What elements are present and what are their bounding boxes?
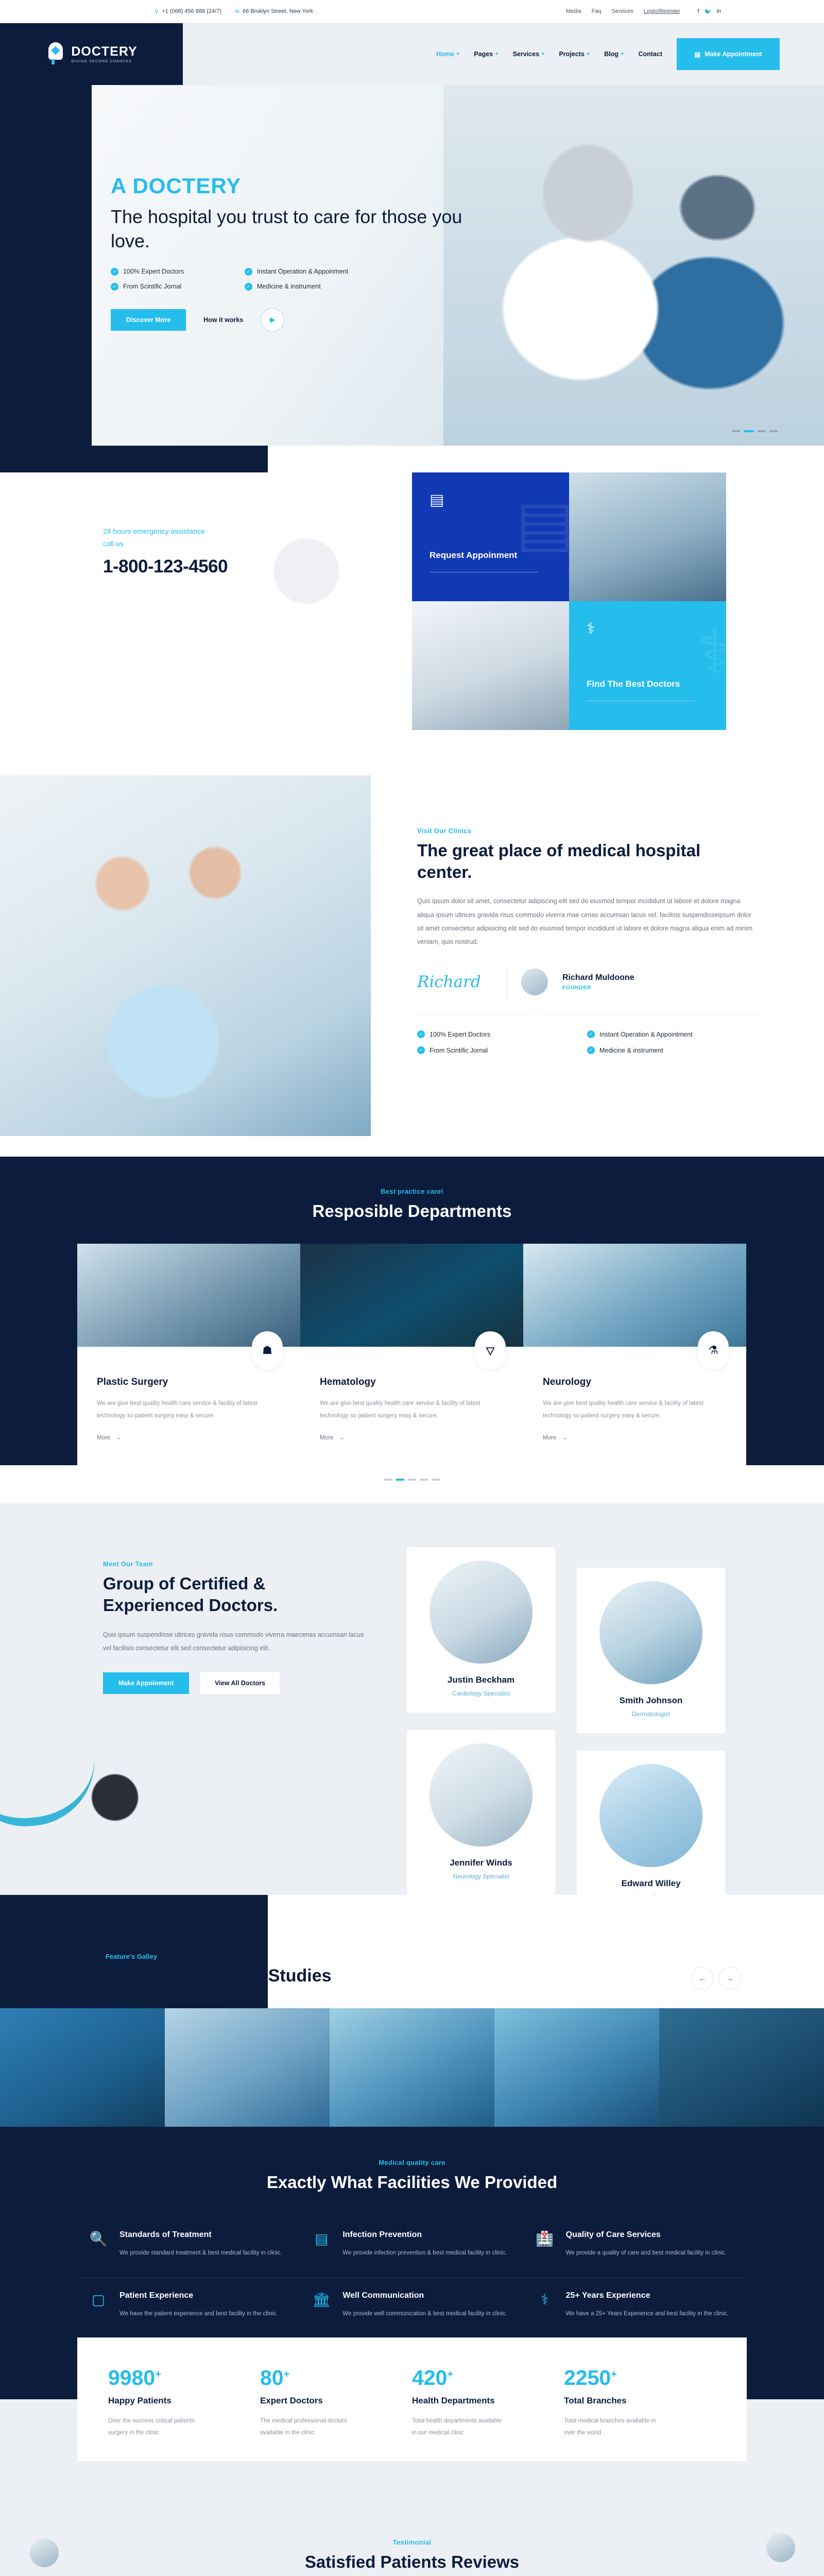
check-icon: ✓ [245,268,252,276]
divider [417,1014,757,1015]
about-paragraph: Quis ipsum dolor sit amet, consectetur a… [417,894,757,948]
hero-feature-label: From Scintific Jornal [123,283,181,290]
chevron-down-icon: + [621,51,624,57]
hero-feature-item: ✓ Instant Operation & Appoinment [245,268,379,276]
stat-item: 420+ Health Departments Total health dep… [412,2367,564,2439]
arrow-right-icon: → [115,1435,122,1441]
stethoscope-icon: ⚕ [534,2291,556,2316]
check-icon: ✓ [245,283,252,291]
facility-item: 🏥 Quality of Care Services We provide a … [524,2217,747,2277]
case-study-image[interactable] [330,2008,494,2127]
about-feature-item: ✓ 100% Expert Doctors [417,1030,587,1038]
stat-text: Total medical branches available in over… [564,2415,657,2439]
facilities-kicker: Medical quality care [0,2159,824,2166]
facility-title: Quality of Care Services [566,2230,727,2240]
facility-title: 25+ Years Experience [566,2291,729,2300]
doctors-handshake-photo [412,601,569,730]
patient-avatar [30,2538,59,2567]
facilities-title: Exactly What Facilities We Provided [0,2172,824,2193]
topbar-address[interactable]: ✉ 66 Broklyn Street, New York [235,8,313,15]
facility-title: Well Communication [342,2291,507,2300]
doctors-section: Meet Our Team Group of Certified & Exper… [0,1503,824,1895]
hero-feature-label: Medicine & instrument [257,283,321,290]
head-surgery-icon: ☗ [252,1331,283,1369]
top-bar: ⚲ +1 (068) 456 888 (24/7) ✉ 66 Broklyn S… [0,0,824,23]
site-header: DOCTERY GIVING SECOND CHANCES Home + Pag… [0,23,824,85]
magnifier-doctor-icon: 🔍 [88,2230,109,2255]
report-icon: ▤ [311,2230,332,2255]
doctor-name: Edward Willey [588,1878,714,1889]
stat-title: Expert Doctors [260,2396,412,2406]
about-feature-label: Instant Operation & Appointment [599,1031,693,1038]
case-study-image[interactable] [165,2008,330,2127]
department-title: Hematology [320,1377,504,1388]
stat-title: Total Branches [564,2396,716,2406]
doctors-title: Group of Certified & Experienced Doctors… [103,1573,371,1616]
about-feature-label: 100% Expert Doctors [430,1031,490,1038]
case-studies-accent-panel [0,1895,268,2008]
departments-section: Best practice care! Resposible Departmen… [0,1157,824,1503]
hero-dot[interactable] [769,430,778,432]
location-pin-icon: ⚲ [154,8,159,15]
topbar-link-login-register[interactable]: Login/Register [644,8,680,14]
case-study-image[interactable] [0,2008,165,2127]
doctor-icon: ⚕ [587,620,595,638]
topbar-link-faq[interactable]: Faq [592,8,602,14]
nav-label: Pages [474,50,493,58]
facility-text: We provide infection prevention & best m… [342,2247,507,2259]
doctery-logo-icon [45,42,66,66]
logo-name: DOCTERY [71,45,137,58]
stats-section: 9980+ Happy Patients Over the success cr… [0,2337,824,2461]
hero-kicker: A DOCTERY [111,175,471,197]
doctor-name: Justin Beckham [418,1675,544,1685]
hero-feature-item: ✓ From Scintific Jornal [111,283,245,291]
view-all-doctors-button[interactable]: View All Doctors [200,1672,280,1694]
nav-label: Services [513,50,539,58]
founder-signature: Richard [417,973,492,991]
department-text: We are give best quality health care ser… [97,1397,281,1422]
patient-avatar [766,2533,795,2562]
doctor-role: Neurology Specialist [418,1873,544,1880]
facility-text: We have the patient experience and best … [119,2308,278,2320]
check-icon: ✓ [111,283,118,291]
arrow-left-icon[interactable]: ← [691,1967,714,1990]
facility-text: We provide well communication & best med… [342,2308,507,2320]
hero-dot-active[interactable] [744,430,754,432]
hero-feature-label: 100% Expert Doctors [123,268,184,275]
about-title: The great place of medical hospital cent… [417,840,757,883]
doctor-role: Cardiology Specialist [418,1690,544,1697]
stat-number: 420+ [412,2367,564,2388]
make-appointment-label: Make Appointment [705,50,762,58]
stat-item: 2250+ Total Branches Total medical branc… [564,2367,716,2439]
departments-slider-dots[interactable] [0,1465,824,1503]
departments-kicker: Best practice care! [0,1188,824,1195]
avatar [599,1581,702,1684]
chevron-down-icon: + [495,51,498,57]
emergency-label: 24 hours emergency assistance call us [103,526,216,550]
doctor-role: Dermatologist [588,1710,714,1718]
make-appointment-button-doctors[interactable]: Make Appoinment [103,1672,189,1694]
doctor-card[interactable]: Smith Johnson Dermatologist [577,1568,725,1733]
department-card[interactable]: ⚗ Neurology We are give best quality hea… [523,1244,746,1465]
doctor-patient-photo [569,472,726,601]
topbar-phone-text: +1 (068) 456 888 (24/7) [162,8,221,14]
facility-text: We have a 25+ Years Experience and best … [566,2308,729,2320]
stat-text: Over the success critical patients surge… [108,2415,201,2439]
stat-plus: + [611,2368,617,2380]
topbar-address-text: 66 Broklyn Street, New York [243,8,313,14]
discover-more-button[interactable]: Discover More [111,309,186,331]
case-studies-gallery [0,2008,824,2127]
chevron-down-icon: + [541,51,544,57]
facilities-grid: 🔍 Standards of Treatment We provide stan… [77,2217,747,2337]
stat-value: 9980 [108,2366,155,2389]
stat-text: Total health departments available in ou… [412,2415,505,2439]
emergency-section: 24 hours emergency assistance call us 1-… [0,446,824,765]
find-best-doctors-title: Find The Best Doctors [587,677,684,691]
nav-label: Home [436,50,454,58]
hero-feature-label: Instant Operation & Appoinment [257,268,348,275]
about-feature-item: ✓ From Scintific Jornal [417,1046,587,1054]
doctors-kicker: Meet Our Team [103,1560,371,1568]
nav-item-home[interactable]: Home + [436,50,459,58]
stethoscope-watermark-icon [221,482,391,626]
case-studies-kicker: Feature's Galley [106,1953,157,1960]
stat-item: 9980+ Happy Patients Over the success cr… [108,2367,260,2439]
emergency-phone-number[interactable]: 1-800-123-4560 [103,556,228,577]
about-feature-label: From Scintific Jornal [430,1047,488,1054]
nav-label: Projects [559,50,584,58]
facility-title: Standards of Treatment [119,2230,282,2240]
check-icon: ✓ [417,1046,425,1054]
founder-role: FOUNDER [562,985,634,991]
stat-number: 9980+ [108,2367,260,2388]
testimonial-section: Testimonial Satisfied Patients Reviews I… [0,2461,824,2576]
logo-tagline: GIVING SECOND CHANCES [71,60,137,63]
divider [430,572,538,572]
make-appointment-button[interactable]: ▤ Make Appointment [677,38,780,70]
stat-number: 2250+ [564,2367,716,2388]
facility-text: We provide standard treatment & best med… [119,2247,282,2259]
more-label: More [320,1435,333,1441]
nav-label: Contact [638,50,662,58]
hero-left-panel [0,85,92,446]
stat-plus: + [155,2368,161,2380]
arrow-right-icon: → [338,1435,345,1441]
testimonial-kicker: Testimonial [0,2538,824,2546]
nav-item-contact[interactable]: Contact [638,50,662,58]
about-section: Visit Our Clinics The great place of med… [0,765,824,1157]
case-study-image[interactable] [494,2008,659,2127]
hero-dot[interactable] [758,430,766,432]
check-icon: ✓ [587,1046,595,1054]
department-text: We are give best quality health care ser… [320,1397,504,1422]
stat-item: 80+ Expert Doctors The medical professio… [260,2367,412,2439]
hospital-icon: 🏥 [534,2230,556,2255]
hero-feature-list: ✓ 100% Expert Doctors ✓ Instant Operatio… [111,268,379,291]
nav-label: Blog [604,50,619,58]
facility-title: Patient Experience [119,2291,278,2300]
chevron-down-icon: + [456,51,459,57]
topbar-link-services[interactable]: Services [612,8,633,14]
doctor-card[interactable]: Jennifer Winds Neurology Specialist [407,1730,555,1895]
nav-item-blog[interactable]: Blog + [604,50,624,58]
dept-dot-active[interactable] [396,1479,404,1481]
stat-title: Happy Patients [108,2396,260,2406]
nav-item-projects[interactable]: Projects + [559,50,590,58]
doctors-paragraph: Quis ipsum suspendisse ultrices gravida … [103,1628,371,1655]
facebook-icon[interactable]: f [698,8,699,15]
divider [506,966,507,998]
department-text: We are give best quality health care ser… [543,1397,727,1422]
founder-name: Richard Muldoone [562,973,634,982]
about-doctors-photo [0,775,371,1136]
check-icon: ✓ [111,268,118,276]
facility-item: ▤ Infection Prevention We provide infect… [300,2217,523,2277]
department-more-link[interactable]: More → [97,1435,281,1441]
founder-avatar [521,969,548,995]
dept-dot[interactable] [432,1479,440,1481]
stat-text: The medical professional doctors availab… [260,2415,353,2439]
nav-item-pages[interactable]: Pages + [474,50,498,58]
nav-item-services[interactable]: Services + [513,50,545,58]
clinic-icon: 🏛 [311,2291,332,2316]
stat-value: 80 [260,2366,284,2389]
calendar-icon: ▤ [694,50,700,58]
check-icon: ✓ [417,1030,425,1038]
dept-dot[interactable] [420,1479,428,1481]
facility-item: ⚕ 25+ Years Experience We have a 25+ Yea… [524,2277,747,2337]
doctor-watermark-icon: ⚕ [698,617,726,688]
about-feature-item: ✓ Instant Operation & Appointment [587,1030,757,1038]
department-title: Neurology [543,1377,727,1388]
arrow-right-icon: → [561,1435,568,1441]
about-kicker: Visit Our Clinics [417,827,757,835]
divider [587,701,695,701]
stat-title: Health Departments [412,2396,564,2406]
hero-title: The hospital you trust to care for those… [111,205,471,253]
lab-icon: ⚗ [698,1331,729,1369]
departments-title: Resposible Departments [0,1200,824,1222]
arrow-right-icon[interactable]: → [719,1967,742,1990]
more-label: More [543,1435,556,1441]
request-appointment-title: Request Appoinment [430,548,527,562]
facility-text: We provide a quality of care and best me… [566,2247,727,2259]
facility-item: 🏛 Well Communication We provide well com… [300,2277,523,2337]
calendar-icon: ▤ [430,491,444,509]
facility-item: ▢ Patient Experience We have the patient… [77,2277,300,2337]
stats-card: 9980+ Happy Patients Over the success cr… [77,2337,747,2468]
about-feature-list: ✓ 100% Expert Doctors ✓ Instant Operatio… [417,1030,757,1054]
page-root: ⚲ +1 (068) 456 888 (24/7) ✉ 66 Broklyn S… [0,0,824,2576]
emergency-accent-panel [0,446,268,472]
logo[interactable]: DOCTERY GIVING SECOND CHANCES [0,23,183,85]
hero-feature-item: ✓ Medicine & instrument [245,283,379,291]
avatar [599,1764,702,1867]
dept-dot[interactable] [408,1479,416,1481]
check-icon: ✓ [587,1030,595,1038]
department-more-link[interactable]: More → [543,1435,727,1441]
case-study-image[interactable] [659,2008,824,2127]
stat-plus: + [447,2368,453,2380]
testimonial-title: Satisfied Patients Reviews [0,2551,824,2573]
dept-dot[interactable] [384,1479,392,1481]
stat-number: 80+ [260,2367,412,2388]
request-appointment-card[interactable]: ▤ ▤ Request Appoinment [412,472,569,601]
stat-value: 420 [412,2366,447,2389]
find-best-doctors-card[interactable]: ⚕ ⚕ Find The Best Doctors [569,601,726,730]
departments-card-row: ☗ Plastic Surgery We are give best quali… [77,1244,747,1465]
hero-feature-item: ✓ 100% Expert Doctors [111,268,245,276]
mobile-health-icon: ▢ [88,2291,109,2316]
main-nav: Home + Pages + Services + Projects + Blo… [183,23,824,85]
department-card[interactable]: ☗ Plastic Surgery We are give best quali… [77,1244,300,1465]
linkedin-icon[interactable]: in [716,8,721,15]
chevron-down-icon: + [587,51,590,57]
stethoscope-decoration-icon [0,1720,268,1854]
doctor-name: Jennifer Winds [418,1858,544,1868]
avatar [430,1561,533,1664]
hero-slider-dots[interactable] [732,430,778,432]
facility-title: Infection Prevention [342,2230,507,2240]
case-studies-section: Feature's Galley Case Studies ← → [0,1895,824,2127]
twitter-icon[interactable]: 🐦 [705,8,712,15]
more-label: More [97,1435,110,1441]
avatar [430,1743,533,1846]
envelope-icon: ✉ [235,8,239,15]
department-more-link[interactable]: More → [320,1435,504,1441]
doctor-card[interactable]: Edward Willey General Doctor [577,1751,725,1916]
case-studies-title: Case Studies [221,1966,332,1986]
about-feature-label: Medicine & instrument [599,1047,663,1054]
facilities-section: Medical quality care Exactly What Facili… [0,2127,824,2337]
about-feature-item: ✓ Medicine & instrument [587,1046,757,1054]
doctor-card[interactable]: Justin Beckham Cardiology Specialist [407,1547,555,1713]
stat-plus: + [284,2368,290,2380]
how-it-works-label: How it works [203,316,243,324]
stat-value: 2250 [564,2366,611,2389]
topbar-phone[interactable]: ⚲ +1 (068) 456 888 (24/7) [154,8,221,15]
topbar-link-media[interactable]: Media [566,8,581,14]
department-card[interactable]: 🜄 Hematology We are give best quality he… [300,1244,523,1465]
blood-test-icon: 🜄 [475,1331,506,1369]
hero-dot[interactable] [732,430,740,432]
play-video-button[interactable]: ▶ [261,308,284,332]
hero-section: A DOCTERY The hospital you trust to care… [0,85,824,446]
facility-item: 🔍 Standards of Treatment We provide stan… [77,2217,300,2277]
doctor-name: Smith Johnson [588,1696,714,1706]
department-title: Plastic Surgery [97,1377,281,1388]
